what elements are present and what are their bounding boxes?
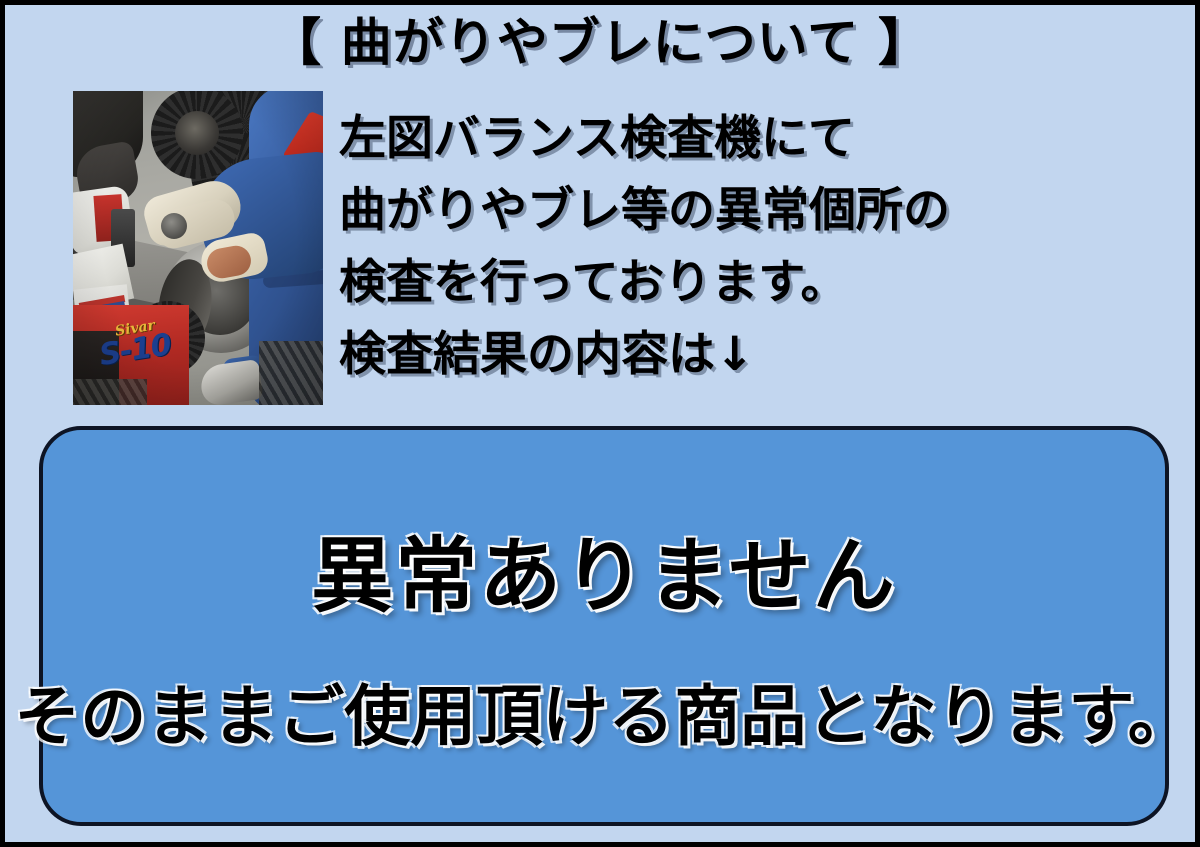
page-title: 【 曲がりやブレについて 】 xyxy=(5,15,1195,74)
photo-vignette xyxy=(73,91,323,405)
balance-machine-photo: Sivar S-10 xyxy=(73,91,323,405)
description-line-3: 検査を行っております。 xyxy=(339,247,1159,319)
inspection-notice-poster: 【 曲がりやブレについて 】 Siv xyxy=(0,0,1200,847)
description-line-4: 検査結果の内容は↓ xyxy=(339,319,1159,391)
description-line-1: 左図バランス検査機にて xyxy=(339,103,1159,175)
inspection-result-box: 異常ありません そのままご使用頂ける商品となります。 xyxy=(39,426,1169,826)
description-text: 左図バランス検査機にて 曲がりやブレ等の異常個所の 検査を行っております。 検査… xyxy=(339,103,1159,391)
result-note: そのままご使用頂ける商品となります。 xyxy=(14,677,1193,756)
result-headline: 異常ありません xyxy=(311,530,897,624)
description-line-2: 曲がりやブレ等の異常個所の xyxy=(339,175,1159,247)
